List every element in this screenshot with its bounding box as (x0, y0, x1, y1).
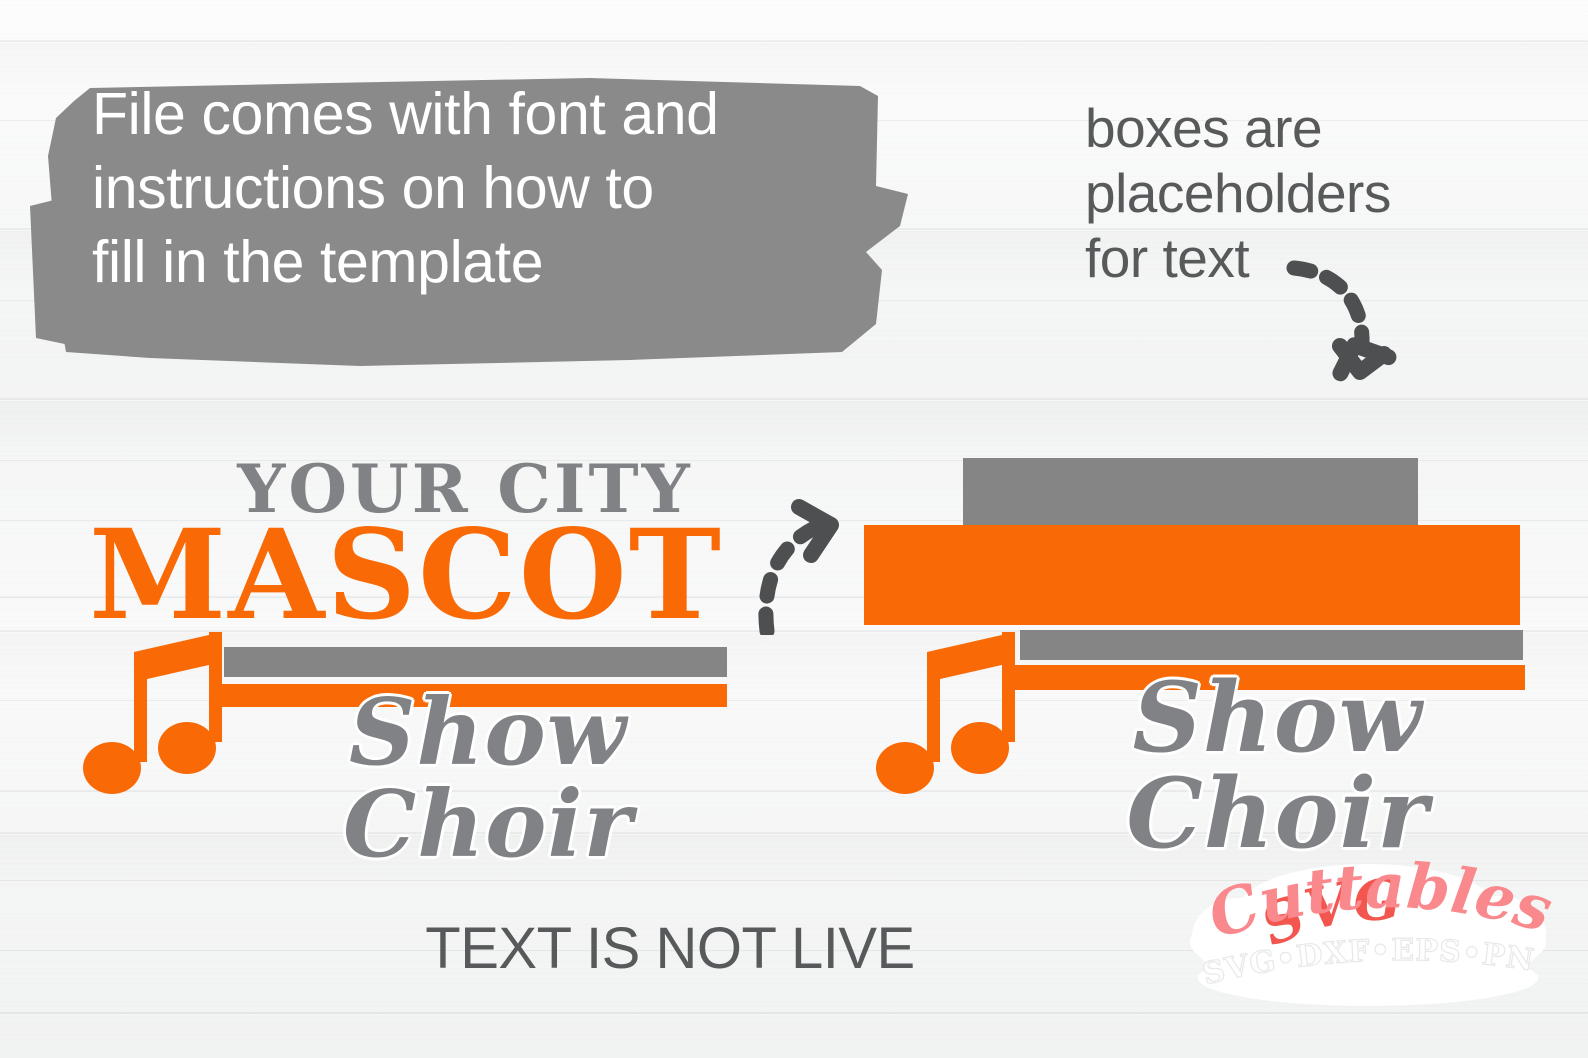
banner-line-1: File comes with font and (92, 78, 892, 152)
annotation-line-2: placeholders (1085, 161, 1475, 226)
annotation-line-1: boxes are (1085, 96, 1475, 161)
svg-cuttables-logo: SVG Cuttables SVG•DXF•EPS•PNG (1168, 838, 1568, 1018)
design-left-gray-bar (224, 647, 727, 677)
instruction-banner: File comes with font and instructions on… (30, 56, 920, 376)
design-left-script-text: Show Choir (238, 686, 738, 870)
design-right-gray-bar (1020, 630, 1523, 660)
design-sample-template: Show Choir (855, 448, 1555, 808)
banner-line-2: instructions on how to (92, 152, 892, 226)
design-left-mascot-text: MASCOT (76, 514, 736, 638)
curved-dashed-arrow-down-icon (1280, 250, 1400, 395)
banner-line-3: fill in the template (92, 226, 892, 300)
curved-dashed-arrow-up-right-icon (735, 495, 865, 635)
beamed-eighth-notes-icon (62, 628, 262, 808)
design-sample-filled: YOUR CITY MASCOT Show Choir (62, 448, 752, 808)
text-not-live-caption: TEXT IS NOT LIVE (380, 915, 960, 982)
banner-text-block: File comes with font and instructions on… (92, 78, 892, 299)
poster-canvas: File comes with font and instructions on… (0, 0, 1588, 1058)
orange-placeholder-box-main (864, 525, 1520, 625)
design-right-script-text: Show Choir (1005, 670, 1550, 862)
